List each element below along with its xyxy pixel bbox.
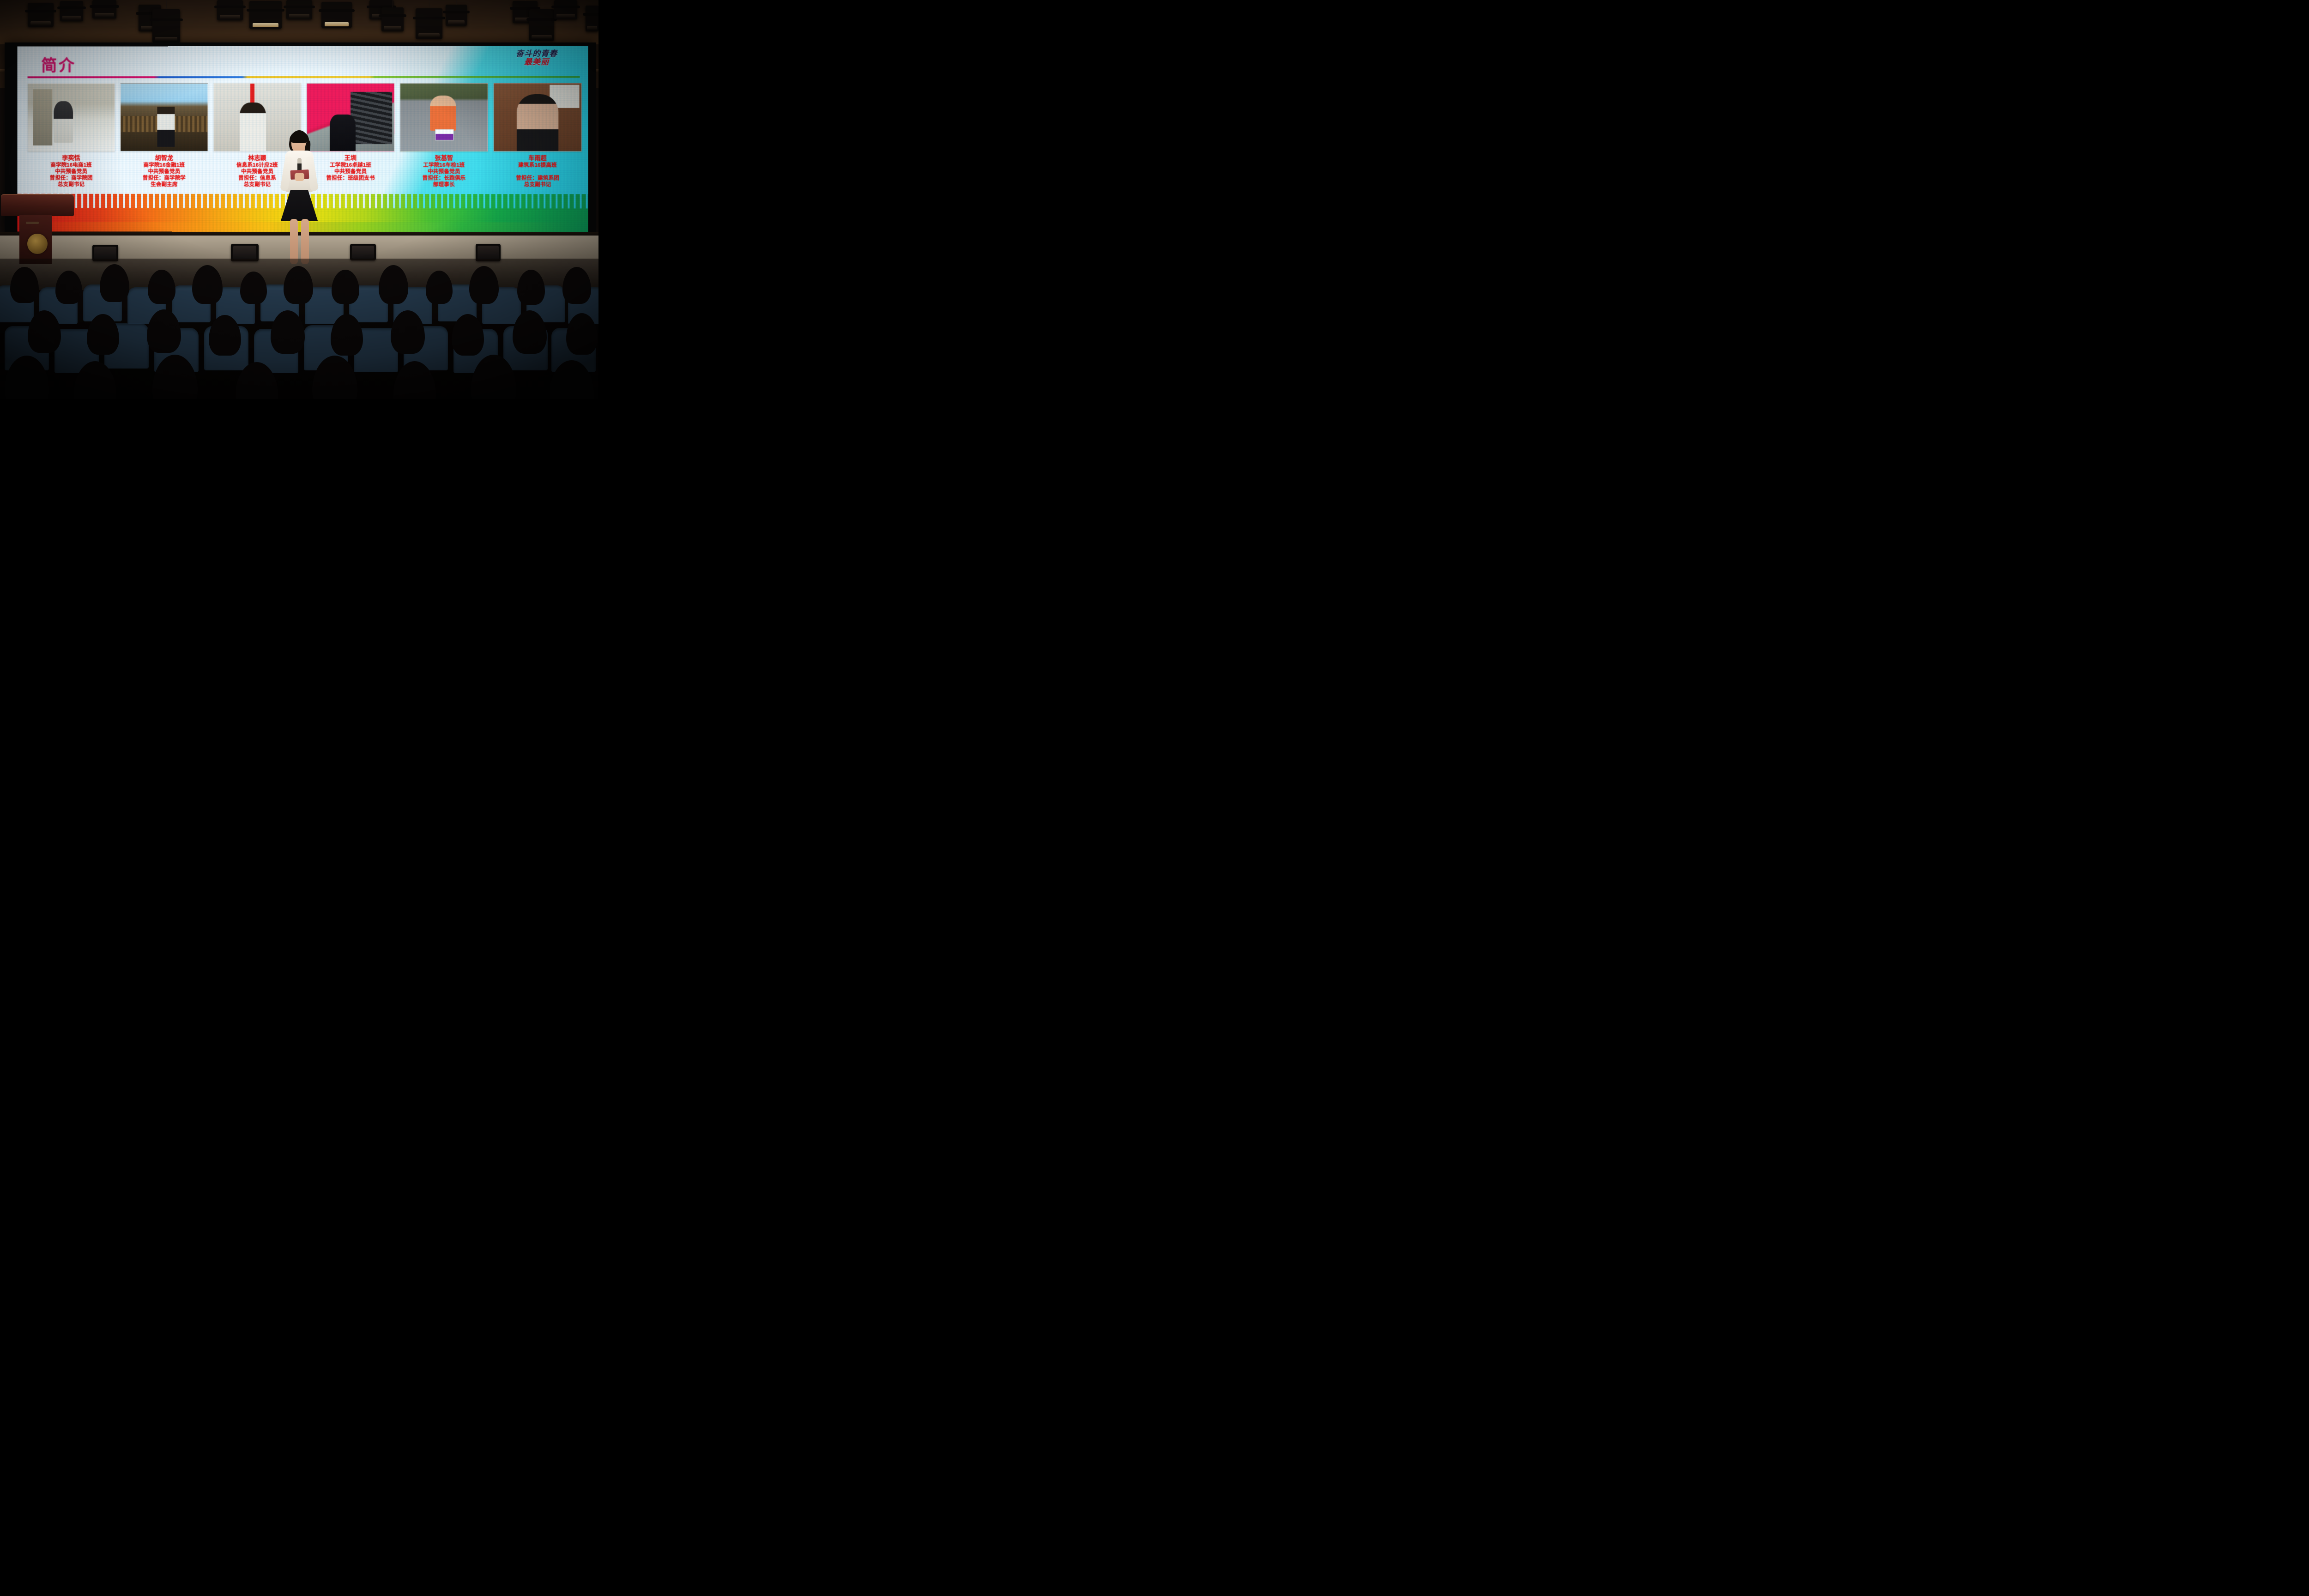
stage-light-icon	[217, 0, 243, 20]
event-logo: 奋斗的青春 最美丽	[497, 50, 576, 76]
person-party: 中共预备党员	[428, 169, 460, 175]
person-party: 中共预备党员	[148, 169, 180, 175]
floor-light-icon	[350, 244, 376, 260]
stage-light-icon	[321, 2, 352, 28]
person-role-line2: 总支副书记	[58, 182, 85, 187]
audience-head	[284, 266, 313, 304]
podium-top	[1, 194, 74, 216]
person-info: 车雨超 建筑系16提高班 曾担任：建筑系团 总支副书记	[516, 154, 559, 188]
person-info: 胡智龙 商学院16金融1班 中共预备党员 曾担任：商学院学 生会副主席	[143, 154, 186, 188]
person-party: 中共预备党员	[334, 169, 367, 175]
event-logo-line1: 奋斗的青春	[516, 49, 557, 58]
auditorium-scene: 简介 奋斗的青春 最美丽 李奕恬 商学院16电商1班 中共预备党员 曾担任：商学…	[0, 0, 598, 399]
stage-light-icon	[416, 8, 442, 39]
person-role-line2: 生会副主席	[151, 182, 177, 187]
person-photo	[400, 83, 488, 151]
stage-light-icon	[28, 3, 54, 27]
audience-head	[469, 266, 499, 304]
audience-head	[332, 270, 359, 304]
person-photo	[121, 83, 208, 151]
person-photo	[494, 83, 582, 151]
stage-light-icon	[446, 5, 467, 26]
person-info: 张基智 工学院16车检1班 中共预备党员 曾担任：长跑俱乐 部理事长	[422, 154, 465, 188]
person-class: 工学院16车检1班	[423, 163, 465, 168]
person-role-line1: 曾担任：商学院团	[50, 175, 93, 181]
stage-light-icon	[60, 1, 83, 21]
host-hands	[295, 173, 304, 181]
person-class: 信息系16计应2班	[236, 163, 278, 168]
stage-light-icon	[249, 1, 282, 29]
podium[interactable]	[1, 194, 74, 264]
person-role-line2: 总支副书记	[524, 182, 551, 187]
audience-head	[452, 314, 484, 356]
event-logo-line2: 最美丽	[524, 57, 549, 66]
host-leg-left	[290, 219, 298, 264]
audience-head	[192, 265, 223, 304]
person-info: 李奕恬 商学院16电商1班 中共预备党员 曾担任：商学院团 总支副书记	[50, 154, 93, 188]
podium-emblem-icon	[27, 234, 48, 254]
person-role-line2: 总支副书记	[244, 182, 271, 187]
stage-light-icon	[286, 0, 312, 19]
audience-head	[240, 272, 267, 304]
person-role-line1: 曾担任：班级团支书	[326, 175, 375, 181]
stage-light-icon	[529, 9, 554, 41]
person-party: 中共预备党员	[55, 169, 87, 175]
person-class: 工学院16卓越1班	[330, 163, 371, 168]
audience-head	[10, 267, 39, 303]
title-divider	[28, 76, 580, 79]
person-role-line1: 曾担任：商学院学	[143, 175, 186, 181]
stage-light-icon	[381, 7, 404, 31]
person-name: 王圳	[326, 154, 375, 162]
person-photo	[28, 83, 115, 151]
stage-light-icon	[152, 9, 180, 42]
person-info: 王圳 工学院16卓越1班 中共预备党员 曾担任：班级团支书	[326, 154, 375, 181]
stage-light-icon	[554, 0, 577, 19]
audience-head	[562, 267, 591, 304]
host-leg-right	[301, 219, 309, 264]
person-info: 林志颖 信息系16计应2班 中共预备党员 曾担任：信息系 总支副书记	[236, 154, 278, 188]
slide-title: 简介	[41, 53, 76, 75]
stage-light-icon	[586, 6, 598, 31]
host-skirt	[281, 190, 318, 221]
person-role-line1: 曾担任：信息系	[238, 175, 276, 181]
audience-area	[0, 259, 598, 399]
person-class: 建筑系16提高班	[518, 163, 557, 168]
host-presenter[interactable]	[276, 130, 322, 273]
person-role-line1: 曾担任：长跑俱乐	[422, 175, 465, 181]
person-class: 商学院16电商1班	[50, 163, 92, 168]
person-name: 李奕恬	[50, 154, 93, 162]
audience-head	[55, 271, 82, 304]
podium-slot	[26, 222, 39, 224]
audience-head	[100, 264, 129, 302]
person-name: 张基智	[422, 154, 465, 162]
person-name: 胡智龙	[143, 154, 186, 162]
person-role-line1: 曾担任：建筑系团	[516, 175, 559, 181]
person-name: 车雨超	[516, 154, 559, 162]
person-role-line2: 部理事长	[433, 182, 455, 187]
audience-head	[426, 271, 453, 304]
stage-light-icon	[92, 0, 116, 18]
person-party: 中共预备党员	[241, 169, 273, 175]
audience-head	[148, 270, 175, 304]
person-class: 商学院16金融1班	[144, 163, 185, 168]
audience-head	[517, 270, 545, 305]
person-name: 林志颖	[236, 154, 278, 162]
audience-head	[379, 265, 408, 304]
host-hair	[290, 131, 309, 143]
